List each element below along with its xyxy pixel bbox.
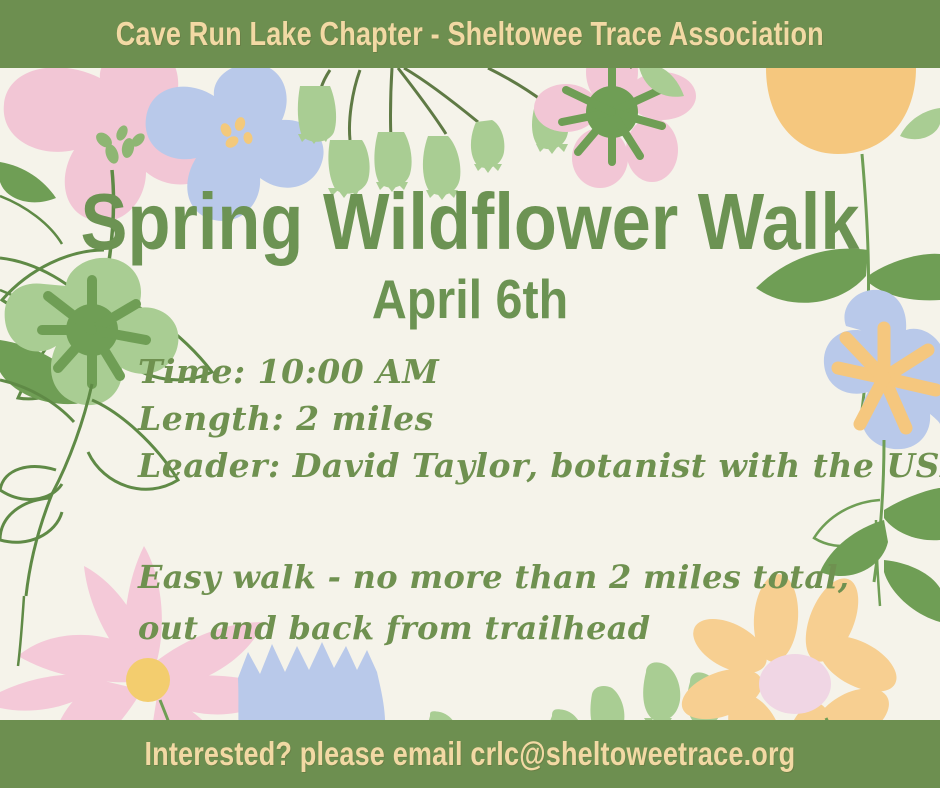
- leaf-shape: [0, 162, 56, 202]
- event-date: April 6th: [56, 272, 883, 327]
- detail-time: Time: 10:00 AM: [138, 348, 928, 395]
- contact-email-text[interactable]: Interested? please email crlc@sheltoweet…: [145, 735, 796, 773]
- detail-length: Length: 2 miles: [138, 395, 928, 442]
- stem-line: [18, 596, 24, 666]
- floral-decoration-layer: [0, 0, 940, 788]
- blue-star-flower-right: [814, 290, 940, 622]
- green-spoke-flower-left: [0, 258, 178, 596]
- stem-line: [0, 196, 62, 244]
- event-note: Easy walk - no more than 2 miles total, …: [138, 552, 858, 654]
- event-details-list: Time: 10:00 AM Length: 2 miles Leader: D…: [138, 348, 928, 489]
- detail-leader: Leader: David Taylor, botanist with the …: [138, 442, 928, 489]
- note-text: Easy walk - no more than 2 miles total, …: [138, 552, 858, 654]
- orange-tulip-blob: [756, 38, 940, 410]
- leaf-shape: [0, 340, 96, 404]
- header-band: Cave Run Lake Chapter - Sheltowee Trace …: [0, 0, 940, 68]
- hanging-green-bells: [298, 68, 568, 200]
- organization-name: Cave Run Lake Chapter - Sheltowee Trace …: [116, 15, 824, 53]
- leaf-shape: [900, 108, 940, 139]
- pink-five-petal-flower-top-left: [0, 44, 220, 404]
- blue-five-petal-flower-top: [146, 64, 324, 221]
- poster-canvas: Spring Wildflower Walk April 6th Time: 1…: [0, 0, 940, 788]
- page-title: Spring Wildflower Walk: [56, 182, 883, 262]
- footer-band: Interested? please email crlc@sheltoweet…: [0, 720, 940, 788]
